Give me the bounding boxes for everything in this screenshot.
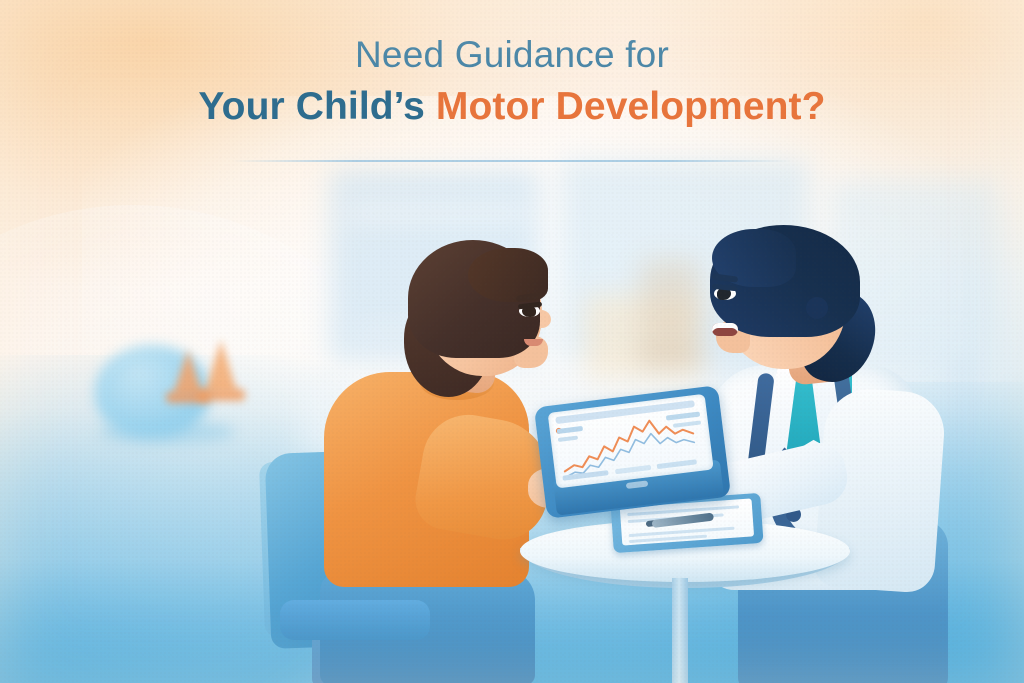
tablet-device[interactable]	[534, 385, 731, 519]
table-stem	[672, 578, 688, 683]
poster-canvas: Need Guidance for Your Child’s Motor Dev…	[0, 0, 1024, 683]
headline-line-1: Need Guidance for	[0, 34, 1024, 75]
headline-line-2: Your Child’s Motor Development?	[0, 84, 1024, 131]
doctor-hair-tie	[806, 297, 828, 319]
headline-divider	[232, 160, 792, 162]
headline-line-2-orange: Motor Development?	[436, 85, 826, 128]
child-chair-seat	[280, 600, 430, 640]
headline-line-2-blue: Your Child’s	[198, 85, 435, 128]
doctor-mouth	[712, 323, 738, 336]
headline-block: Need Guidance for Your Child’s Motor Dev…	[0, 34, 1024, 131]
